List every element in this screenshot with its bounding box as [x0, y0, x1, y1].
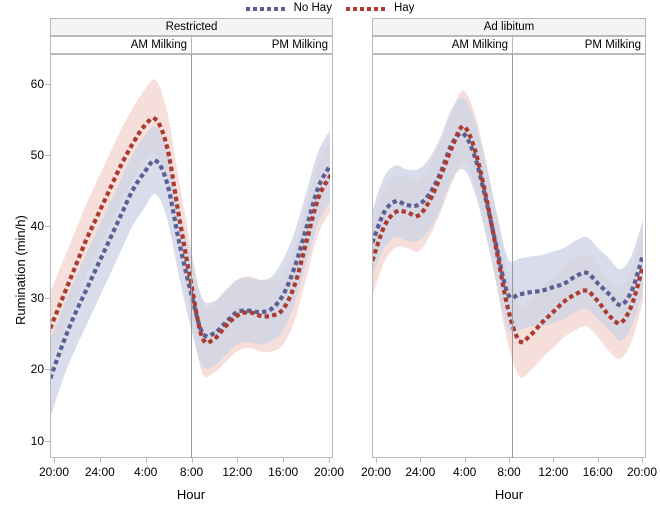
- x-axis-tick-mark: [465, 458, 466, 463]
- y-axis-tick-mark: [45, 369, 50, 370]
- milking-divider-ad-libitum: [512, 54, 513, 458]
- y-axis-tick-mark: [45, 226, 50, 227]
- panel-header-restricted: Restricted: [50, 18, 333, 36]
- x-axis-label-restricted: Hour: [141, 488, 241, 501]
- panel-sublabel-restricted-pm: PM Milking: [191, 36, 333, 54]
- y-axis-tick-label: 50: [18, 149, 44, 161]
- y-axis-tick-mark: [45, 298, 50, 299]
- x-axis-tick-mark: [598, 458, 599, 463]
- x-axis-tick-label: 4:00: [440, 466, 490, 478]
- x-axis-tick-label: 24:00: [395, 466, 445, 478]
- legend-swatch-no-hay: [246, 7, 288, 11]
- legend-label-no-hay: No Hay: [294, 3, 332, 15]
- legend-item-no-hay: No Hay: [246, 3, 332, 15]
- x-axis-tick-mark: [54, 458, 55, 463]
- x-axis-tick-mark: [100, 458, 101, 463]
- y-axis-tick-mark: [45, 84, 50, 85]
- plot-area-ad-libitum: [372, 54, 646, 458]
- y-axis-tick-mark: [45, 155, 50, 156]
- sublabel-text: AM Milking: [452, 39, 508, 51]
- x-axis-tick-label: 20:00: [29, 466, 79, 478]
- x-axis-tick-label: 8:00: [484, 466, 534, 478]
- x-axis-tick-label: 4:00: [121, 466, 171, 478]
- panel-sublabel-adlib-pm: PM Milking: [512, 36, 646, 54]
- x-axis-tick-mark: [376, 458, 377, 463]
- y-axis-tick-mark: [45, 441, 50, 442]
- x-axis-tick-label: 24:00: [75, 466, 125, 478]
- panel-sublabel-adlib-am: AM Milking: [372, 36, 513, 54]
- x-axis-tick-label: 16:00: [258, 466, 308, 478]
- y-axis-tick-label: 10: [18, 435, 44, 447]
- y-axis-tick-label: 20: [18, 363, 44, 375]
- x-axis-tick-label: 16:00: [573, 466, 623, 478]
- legend-label-hay: Hay: [394, 3, 414, 15]
- x-axis-tick-mark: [283, 458, 284, 463]
- x-axis-tick-label: 12:00: [212, 466, 262, 478]
- x-axis-tick-mark: [509, 458, 510, 463]
- y-axis-label: Rumination (min/h): [14, 215, 27, 325]
- sublabel-text: PM Milking: [585, 39, 641, 51]
- legend-item-hay: Hay: [346, 3, 414, 15]
- x-axis-tick-mark: [329, 458, 330, 463]
- sublabel-text: PM Milking: [272, 39, 328, 51]
- panel-header-ad-libitum: Ad libitum: [372, 18, 646, 36]
- x-axis-tick-mark: [553, 458, 554, 463]
- x-axis-tick-label: 8:00: [167, 466, 217, 478]
- x-axis-tick-label: 20:00: [304, 466, 354, 478]
- x-axis-tick-label: 20:00: [351, 466, 401, 478]
- panel-title-ad-libitum: Ad libitum: [484, 21, 535, 33]
- x-axis-tick-mark: [420, 458, 421, 463]
- milking-divider-restricted: [191, 54, 192, 458]
- x-axis-tick-mark: [237, 458, 238, 463]
- x-axis-tick-mark: [146, 458, 147, 463]
- x-axis-tick-label: 12:00: [528, 466, 578, 478]
- panel-title-restricted: Restricted: [166, 21, 218, 33]
- x-axis-tick-mark: [642, 458, 643, 463]
- x-axis-tick-mark: [192, 458, 193, 463]
- x-axis-tick-label: 20:00: [617, 466, 660, 478]
- chart-legend: No Hay Hay: [0, 0, 660, 18]
- y-axis-tick-label: 60: [18, 78, 44, 90]
- legend-swatch-hay: [346, 7, 388, 11]
- panel-sublabel-restricted-am: AM Milking: [50, 36, 192, 54]
- x-axis-label-ad-libitum: Hour: [459, 488, 559, 501]
- sublabel-text: AM Milking: [131, 39, 187, 51]
